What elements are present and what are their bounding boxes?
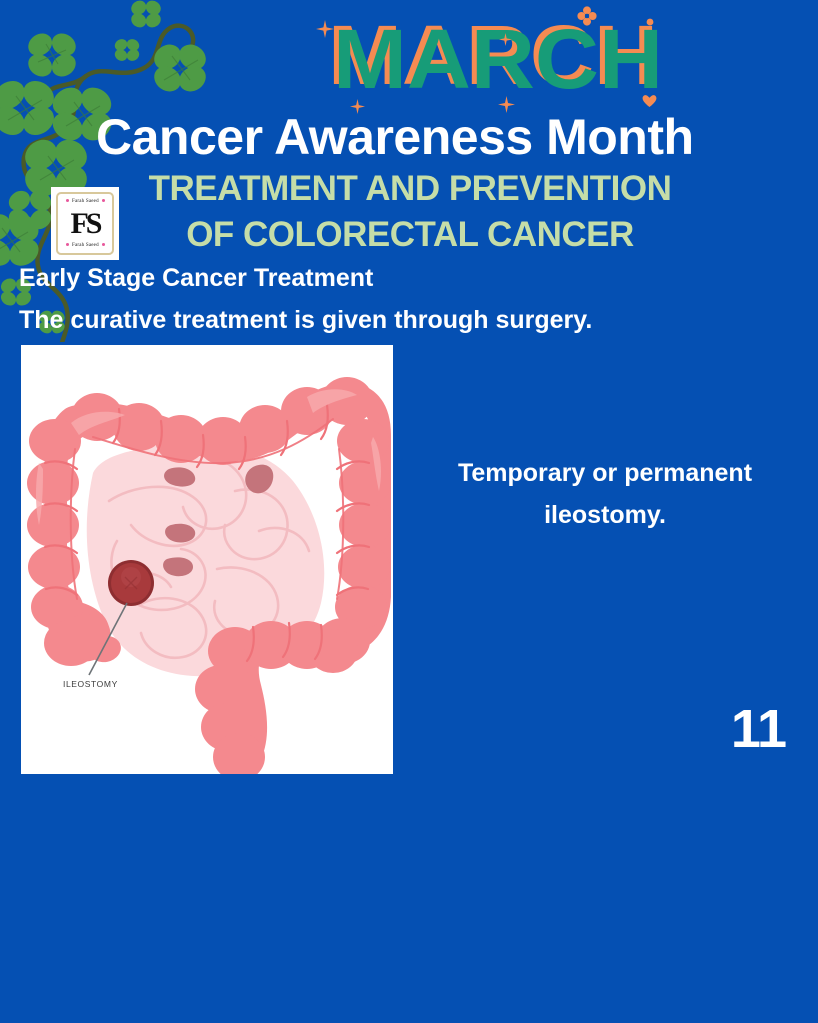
logo-dot-left <box>66 199 69 202</box>
stoma-marker <box>108 560 154 606</box>
logo-monogram: FS <box>70 210 99 238</box>
colon-illustration-panel: ILEOSTOMY <box>21 345 393 774</box>
logo-brand-top: Farah Saeed <box>72 199 99 204</box>
logo-brand-bottom: Farah Saeed <box>72 243 99 248</box>
logo-bottom-text: Farah Saeed <box>63 243 107 248</box>
subtitle-line-2: OF COLORECTAL CANCER <box>60 212 760 258</box>
ileostomy-label: ILEOSTOMY <box>63 679 118 689</box>
caption-line-1: Temporary or permanent <box>410 452 800 494</box>
page-title: Cancer Awareness Month <box>96 108 818 166</box>
page-number: 11 <box>731 698 786 760</box>
logo-dot-left-2 <box>66 243 69 246</box>
caption-line-2: ileostomy. <box>410 494 800 536</box>
logo-top-text: Farah Saeed <box>63 199 107 204</box>
section-body-text: The curative treatment is given through … <box>19 306 592 335</box>
page-subtitle: TREATMENT AND PREVENTION OF COLORECTAL C… <box>60 166 760 258</box>
logo-dot-right-2 <box>102 243 105 246</box>
march-wordmark: MARCH MARCH <box>325 8 665 108</box>
section-heading: Early Stage Cancer Treatment <box>19 264 373 293</box>
logo-frame: Farah Saeed FS Farah Saeed <box>56 192 114 255</box>
logo-dot-right <box>102 199 105 202</box>
figure-caption: Temporary or permanent ileostomy. <box>410 452 800 536</box>
colon-with-ileostomy-illustration: ILEOSTOMY <box>21 345 393 774</box>
subtitle-line-1: TREATMENT AND PREVENTION <box>60 166 760 212</box>
brand-logo: Farah Saeed FS Farah Saeed <box>51 187 119 260</box>
slide-canvas: MARCH MARCH Cancer Awareness Month <box>0 0 818 1023</box>
svg-text:MARCH: MARCH <box>333 12 663 106</box>
